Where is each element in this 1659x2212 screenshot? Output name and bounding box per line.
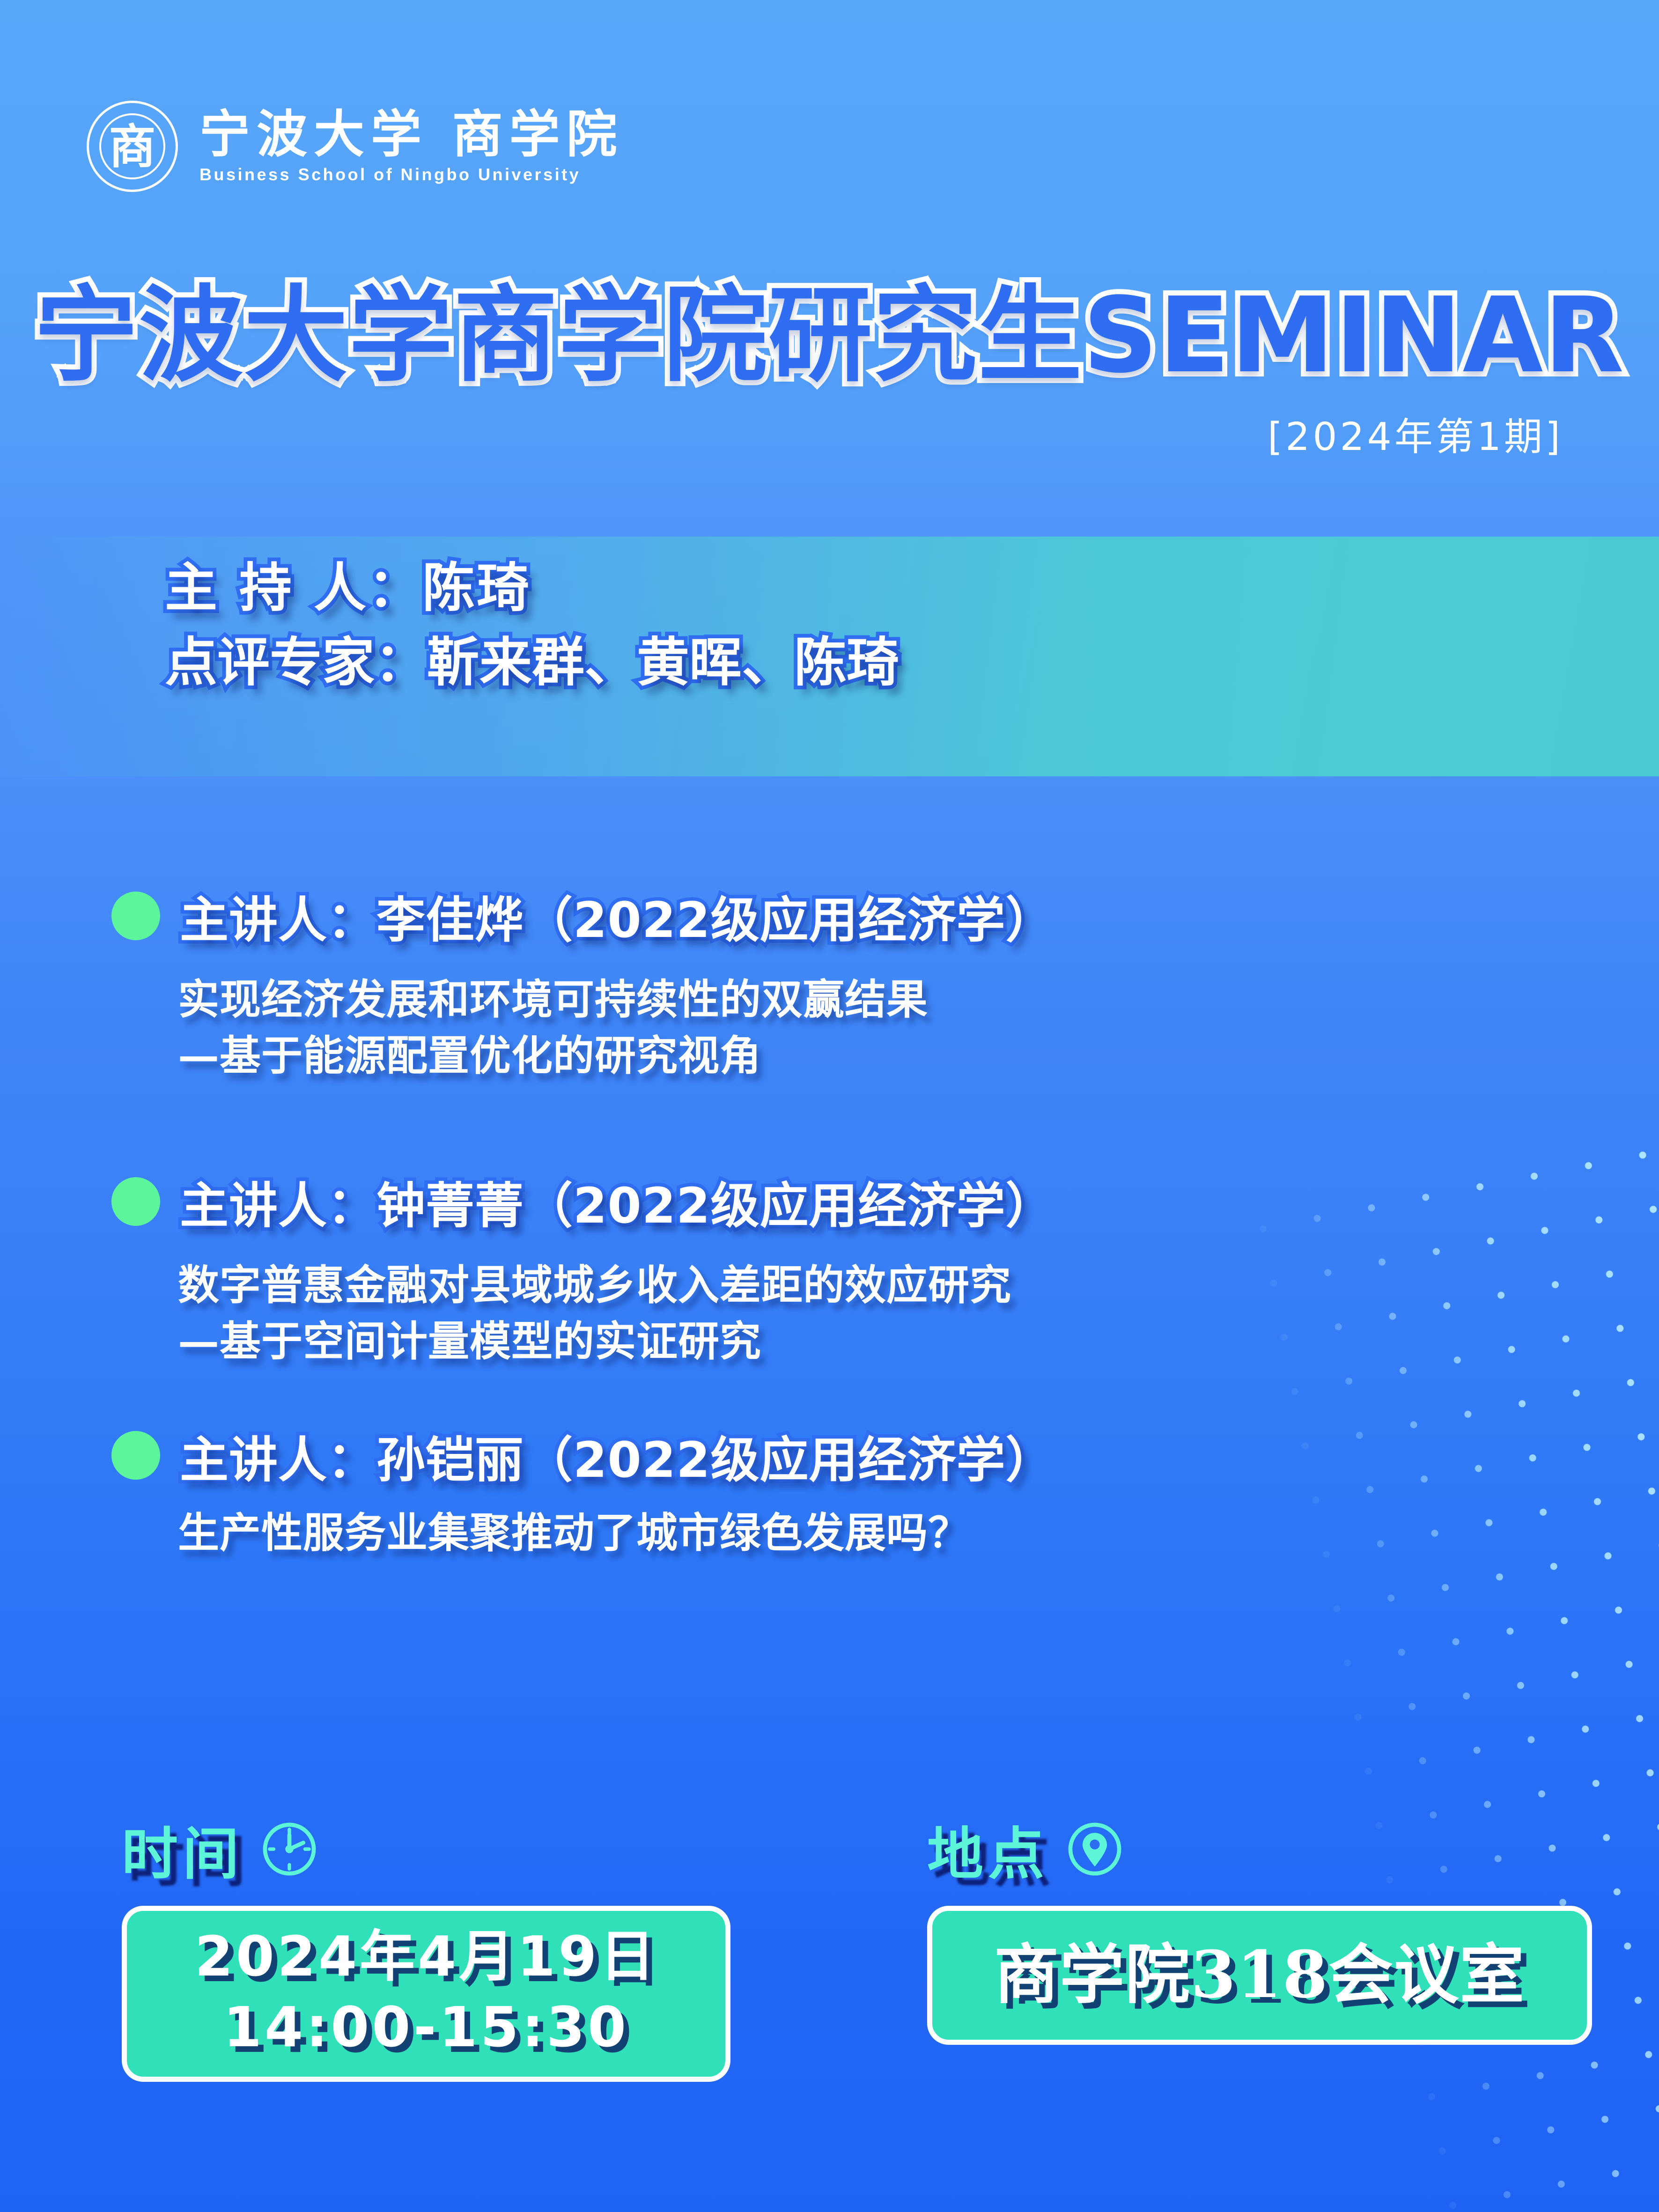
page-title: 宁波大学商学院研究生SEMINAR: [34, 281, 1625, 391]
school-name-cn: 宁波大学 商学院: [199, 108, 624, 161]
speaker-topic-line: 生产性服务业集聚推动了城市绿色发展吗？: [178, 1505, 1659, 1561]
clock-icon: [260, 1820, 318, 1878]
issue-number: [2024年第1期]: [1268, 406, 1563, 461]
speaker-topic-line: 实现经济发展和环境可持续性的双赢结果: [178, 972, 1659, 1028]
place-column: 地点 商学院318会议室: [927, 1808, 1592, 2045]
host-info: 主 持 人：陈琦 点评专家：靳来群、黄晖、陈琦: [165, 556, 899, 694]
speaker-item: 主讲人：钟菁菁（2022级应用经济学） 数字普惠金融对县域城乡收入差距的效应研究…: [0, 1166, 1659, 1369]
time-date: 2024年4月19日: [146, 1921, 707, 1992]
place-label: 地点: [927, 1808, 1049, 1890]
event-details: 时间 2024年4月19日 14:00-15:30: [0, 1808, 1659, 2099]
speaker-topic-line: —基于空间计量模型的实证研究: [178, 1313, 1659, 1370]
university-seal-icon: 商: [87, 101, 178, 192]
place-value: 商学院318会议室: [951, 1933, 1568, 2016]
speaker-item: 主讲人：李佳烨（2022级应用经济学） 实现经济发展和环境可持续性的双赢结果 —…: [0, 880, 1659, 1084]
time-label: 时间: [122, 1808, 243, 1890]
moderator-line: 主 持 人：陈琦: [165, 556, 899, 620]
time-label-row: 时间: [122, 1808, 787, 1890]
speaker-heading-row: 主讲人：钟菁菁（2022级应用经济学）: [0, 1166, 1659, 1237]
speaker-topic-line: —基于能源配置优化的研究视角: [178, 1028, 1659, 1084]
speaker-heading-row: 主讲人：李佳烨（2022级应用经济学）: [0, 880, 1659, 951]
time-range: 14:00-15:30: [146, 1992, 707, 2063]
speaker-heading: 主讲人：钟菁菁（2022级应用经济学）: [180, 1166, 1054, 1237]
bullet-dot-icon: [111, 892, 160, 940]
speaker-topic: 生产性服务业集聚推动了城市绿色发展吗？: [0, 1505, 1659, 1561]
speaker-list: 主讲人：李佳烨（2022级应用经济学） 实现经济发展和环境可持续性的双赢结果 —…: [0, 880, 1659, 1561]
time-column: 时间 2024年4月19日 14:00-15:30: [122, 1808, 787, 2082]
map-pin-icon: [1066, 1820, 1124, 1878]
seminar-poster: 商 宁波大学 商学院 Business School of Ningbo Uni…: [0, 0, 1659, 2212]
seal-character: 商: [89, 123, 176, 170]
time-box: 2024年4月19日 14:00-15:30: [122, 1906, 730, 2082]
school-logo-header: 商 宁波大学 商学院 Business School of Ningbo Uni…: [87, 101, 624, 192]
title-block: 宁波大学商学院研究生SEMINAR: [0, 281, 1659, 391]
speaker-topic: 数字普惠金融对县域城乡收入差距的效应研究 —基于空间计量模型的实证研究: [0, 1257, 1659, 1369]
speaker-heading-row: 主讲人：孙铠丽（2022级应用经济学）: [0, 1420, 1659, 1491]
speaker-heading: 主讲人：孙铠丽（2022级应用经济学）: [180, 1420, 1054, 1491]
reviewers-line: 点评专家：靳来群、黄晖、陈琦: [165, 631, 899, 695]
speaker-topic-line: 数字普惠金融对县域城乡收入差距的效应研究: [178, 1257, 1659, 1313]
school-name-block: 宁波大学 商学院 Business School of Ningbo Unive…: [199, 108, 624, 184]
bullet-dot-icon: [111, 1177, 160, 1226]
bullet-dot-icon: [111, 1431, 160, 1480]
place-label-row: 地点: [927, 1808, 1592, 1890]
place-box: 商学院318会议室: [927, 1906, 1592, 2045]
speaker-heading: 主讲人：李佳烨（2022级应用经济学）: [180, 880, 1054, 951]
speaker-item: 主讲人：孙铠丽（2022级应用经济学） 生产性服务业集聚推动了城市绿色发展吗？: [0, 1420, 1659, 1561]
school-name-en: Business School of Ningbo University: [199, 165, 624, 184]
speaker-topic: 实现经济发展和环境可持续性的双赢结果 —基于能源配置优化的研究视角: [0, 972, 1659, 1084]
